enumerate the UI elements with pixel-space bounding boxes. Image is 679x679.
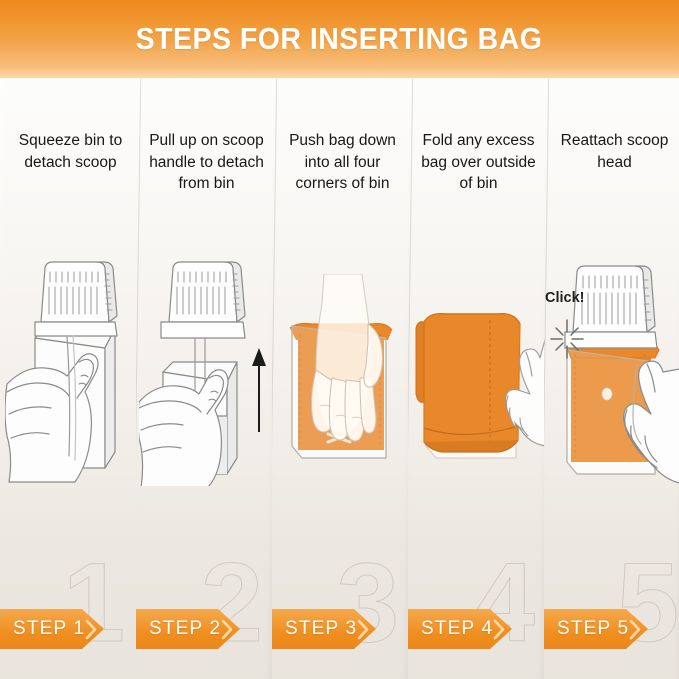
- step-caption-3: Push bag down into all four corners of b…: [272, 130, 413, 195]
- step-panel-3[interactable]: Push bag down into all four corners of b…: [272, 78, 413, 679]
- step-banner-2[interactable]: STEP 2: [136, 609, 240, 649]
- step-banner-label-2: STEP 2: [136, 618, 221, 640]
- step-banner-label-5: STEP 5: [544, 618, 629, 640]
- step-caption-4: Fold any excess bag over outside of bin: [408, 130, 549, 195]
- step-banner-label-4: STEP 4: [408, 618, 493, 640]
- chevron-right-icon: [493, 619, 506, 640]
- step-illustration-3: [272, 274, 413, 574]
- chevron-right-icon: [221, 619, 234, 640]
- page-title: STEPS FOR INSERTING BAG: [136, 21, 543, 57]
- step-illustration-1: [0, 256, 141, 556]
- chevron-right-icon: [357, 619, 370, 640]
- step-panel-5[interactable]: Reattach scoop head 5: [544, 78, 679, 679]
- step-caption-2: Pull up on scoop handle to detach from b…: [136, 130, 277, 195]
- step-illustration-4: [408, 296, 549, 596]
- step-banner-5[interactable]: STEP 5: [544, 609, 648, 649]
- step-illustration-2: [136, 256, 277, 556]
- steps-panel-strip: Squeeze bin to detach scoop 1: [0, 78, 679, 679]
- up-arrow-icon: [252, 348, 266, 432]
- step-banner-label-3: STEP 3: [272, 618, 357, 640]
- infographic-root: STEPS FOR INSERTING BAG Squeeze bin to d…: [0, 0, 679, 679]
- step-caption-1: Squeeze bin to detach scoop: [0, 130, 141, 173]
- header-banner: STEPS FOR INSERTING BAG: [0, 0, 679, 78]
- step-banner-3[interactable]: STEP 3: [272, 609, 376, 649]
- step-panel-1[interactable]: Squeeze bin to detach scoop 1: [0, 78, 141, 679]
- chevron-right-icon: [85, 619, 98, 640]
- step-panel-4[interactable]: Fold any excess bag over outside of bin …: [408, 78, 549, 679]
- chevron-right-icon: [629, 619, 642, 640]
- step-panel-2[interactable]: Pull up on scoop handle to detach from b…: [136, 78, 277, 679]
- svg-text:Click!: Click!: [545, 290, 585, 306]
- step-caption-5: Reattach scoop head: [544, 130, 679, 173]
- step-banner-1[interactable]: STEP 1: [0, 609, 104, 649]
- step-illustration-5: Click!: [544, 258, 679, 558]
- step-banner-label-1: STEP 1: [0, 618, 85, 640]
- step-banner-4[interactable]: STEP 4: [408, 609, 512, 649]
